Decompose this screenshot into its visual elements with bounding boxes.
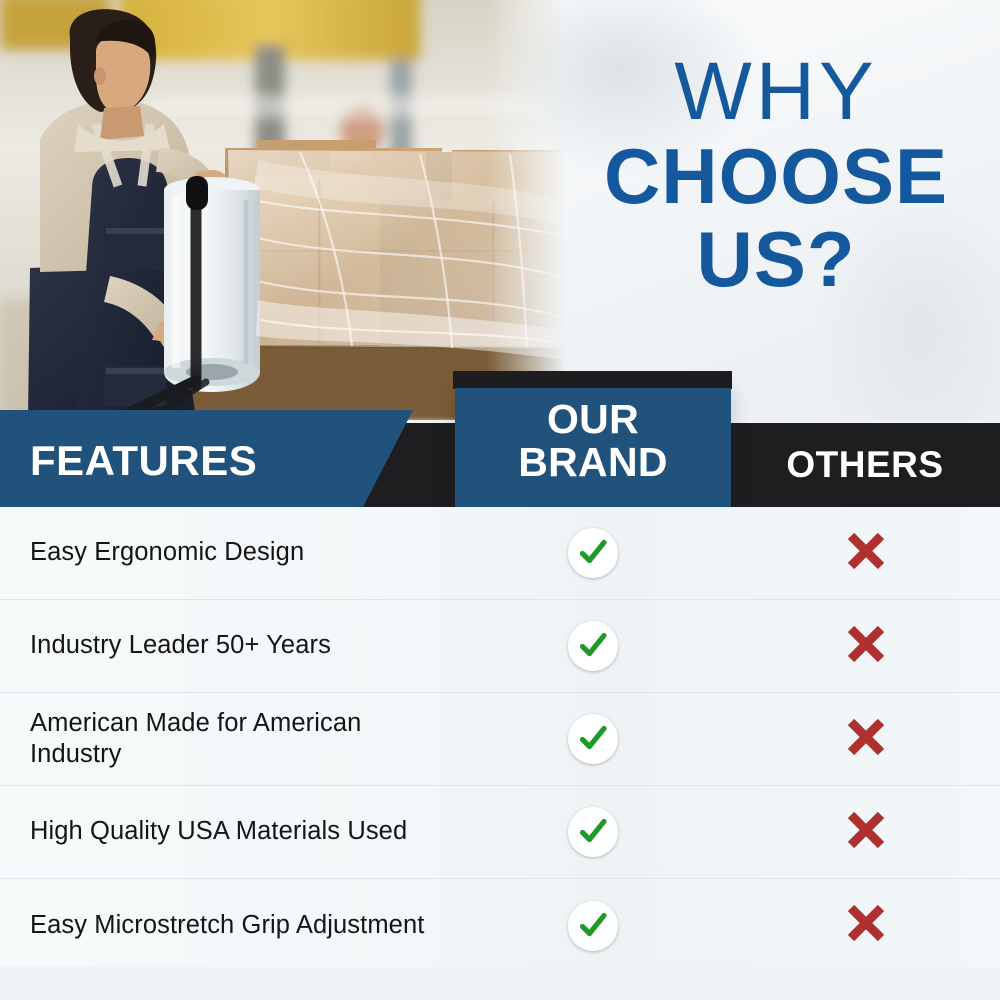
table-row: Easy Ergonomic Design [0, 507, 1000, 600]
check-circle-icon [568, 807, 618, 857]
column-header-features: FEATURES [30, 437, 257, 485]
cell-our-brand [455, 879, 731, 972]
headline-line-3: US? [566, 221, 986, 297]
table-row: American Made for American Industry [0, 693, 1000, 786]
column-header-our-brand-line2: BRAND [455, 441, 731, 484]
headline-line-1: WHY [566, 52, 986, 132]
x-mark-icon [843, 807, 889, 858]
feature-label: Easy Ergonomic Design [30, 507, 430, 599]
feature-label: Industry Leader 50+ Years [30, 600, 430, 692]
headline-line-2: CHOOSE [566, 138, 986, 214]
cell-others [731, 693, 1000, 785]
cell-others [731, 879, 1000, 972]
feature-label: American Made for American Industry [30, 693, 430, 785]
cell-others [731, 786, 1000, 878]
table-row: Easy Microstretch Grip Adjustment [0, 879, 1000, 972]
brand-column-top-accent [453, 371, 732, 389]
table-row: High Quality USA Materials Used [0, 786, 1000, 879]
comparison-table-rows: Easy Ergonomic Design Industry Leader 50… [0, 507, 1000, 967]
x-mark-icon [843, 714, 889, 765]
check-circle-icon [568, 901, 618, 951]
page-headline: WHY CHOOSE US? [566, 52, 986, 297]
table-row: Industry Leader 50+ Years [0, 600, 1000, 693]
warehouse-worker-photo [0, 0, 566, 420]
check-circle-icon [568, 621, 618, 671]
check-circle-icon [568, 528, 618, 578]
x-mark-icon [843, 528, 889, 579]
cell-our-brand [455, 786, 731, 878]
cell-others [731, 600, 1000, 692]
feature-label: High Quality USA Materials Used [30, 786, 430, 878]
cell-our-brand [455, 693, 731, 785]
cell-others [731, 507, 1000, 599]
column-header-our-brand-line1: OUR [547, 396, 639, 442]
column-header-our-brand: OUR BRAND [455, 398, 731, 483]
cell-our-brand [455, 507, 731, 599]
x-mark-icon [843, 900, 889, 951]
feature-label: Easy Microstretch Grip Adjustment [30, 879, 430, 972]
x-mark-icon [843, 621, 889, 672]
check-circle-icon [568, 714, 618, 764]
cell-our-brand [455, 600, 731, 692]
column-header-others: OTHERS [730, 423, 1000, 507]
infographic-canvas: WHY CHOOSE US? FEATURES OTHERS OUR BRAND… [0, 0, 1000, 1000]
bottom-spacer [0, 967, 1000, 1000]
